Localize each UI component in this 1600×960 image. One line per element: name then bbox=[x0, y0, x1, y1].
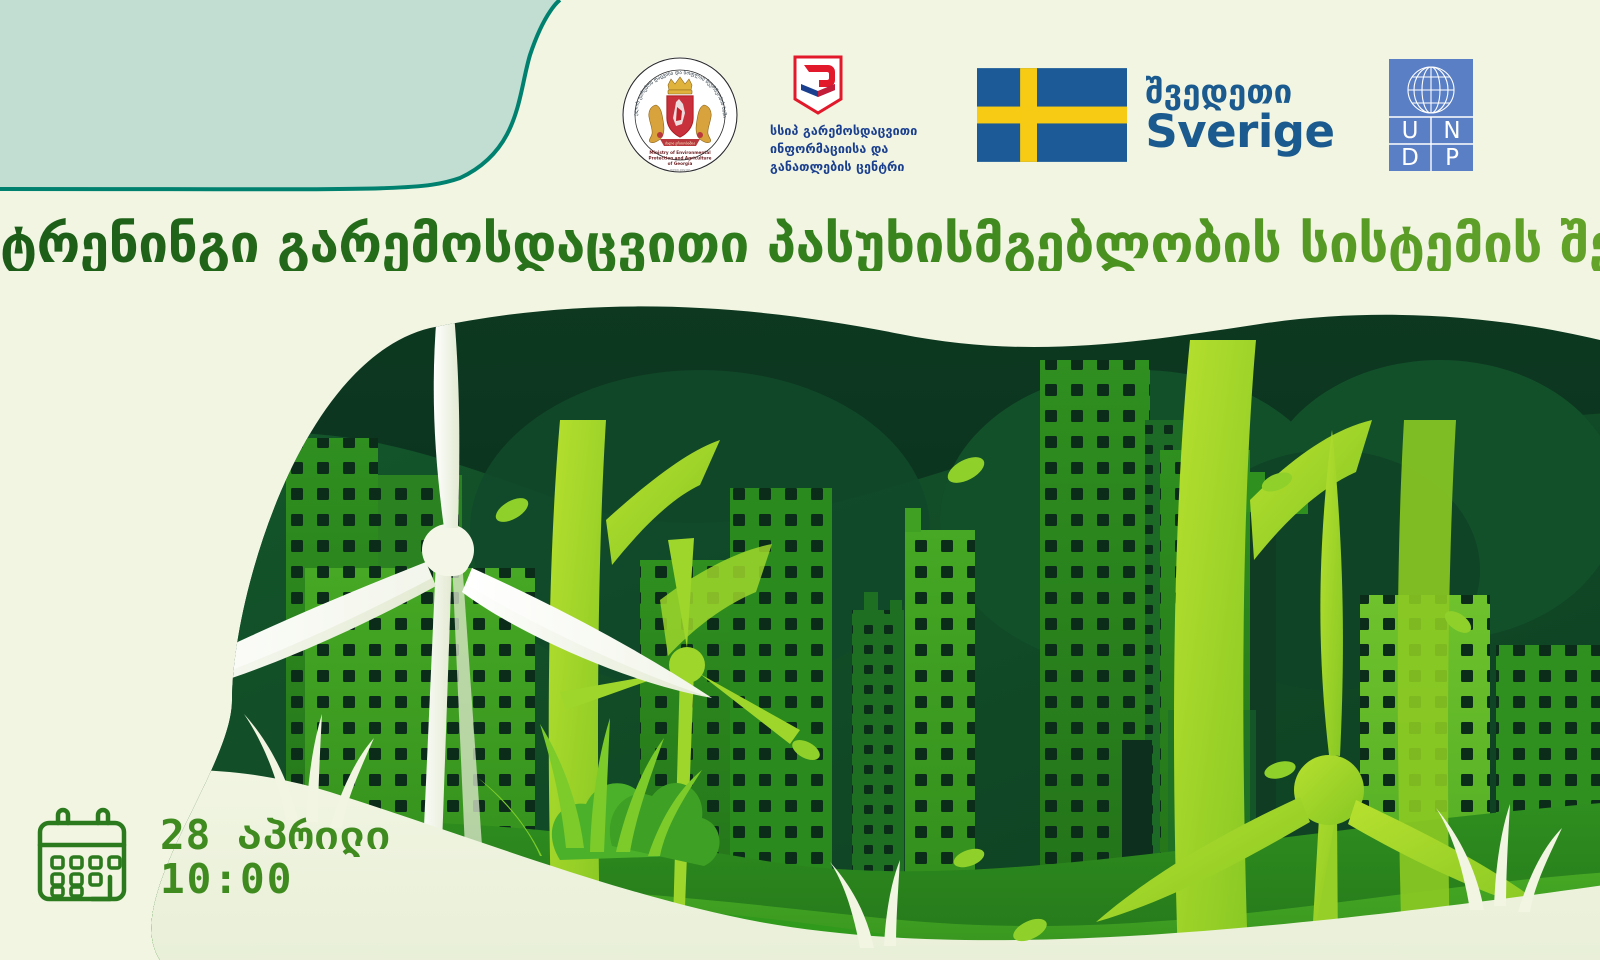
eiec-book-icon bbox=[792, 54, 844, 116]
event-datetime-text: 28 აპრილი 10:00 bbox=[160, 813, 391, 902]
svg-text:N: N bbox=[1444, 118, 1461, 144]
partner-logos-strip: საქართველოს გარემოს დაცვისა და სოფლის მე… bbox=[620, 40, 1520, 190]
svg-text:ძალა ერთობაშია: ძალა ერთობაშია bbox=[665, 142, 695, 146]
undp-logo-icon: U N D P bbox=[1389, 59, 1473, 171]
svg-text:Protection and Agriculture: Protection and Agriculture bbox=[649, 156, 712, 161]
event-date: 28 აპრილი bbox=[160, 813, 391, 857]
ministry-seal-icon: საქართველოს გარემოს დაცვისა და სოფლის მე… bbox=[620, 55, 740, 175]
poster-canvas: საქართველოს გარემოს დაცვისა და სოფლის მე… bbox=[0, 0, 1600, 960]
sweden-label-ka: შვედეთი bbox=[1145, 75, 1334, 108]
event-time: 10:00 bbox=[160, 857, 391, 901]
svg-text:U: U bbox=[1402, 118, 1419, 144]
sweden-wordmark: შვედეთი Sverige bbox=[1145, 75, 1334, 155]
sweden-label-en: Sverige bbox=[1145, 108, 1334, 155]
eiec-logo: სსიპ გარემოსდაცვითი ინფორმაციისა და განა… bbox=[770, 54, 917, 175]
svg-text:mepa.gov.ge: mepa.gov.ge bbox=[670, 168, 690, 172]
sweden-flag-icon bbox=[977, 68, 1127, 162]
svg-text:D: D bbox=[1402, 145, 1420, 171]
calendar-icon bbox=[30, 805, 134, 909]
svg-text:P: P bbox=[1446, 145, 1460, 171]
mint-header-band bbox=[0, 0, 700, 200]
ministry-seal-logo: საქართველოს გარემოს დაცვისა და სოფლის მე… bbox=[620, 55, 740, 175]
poster-title: ტრენინგი გარემოსდაცვითი პასუხისმგებლობის… bbox=[0, 218, 1600, 271]
svg-text:Ministry of Environmental: Ministry of Environmental bbox=[649, 150, 711, 155]
svg-text:of Georgia: of Georgia bbox=[668, 161, 693, 166]
sweden-logo: შვედეთი Sverige bbox=[977, 68, 1334, 162]
eiec-logo-text: სსიპ გარემოსდაცვითი ინფორმაციისა და განა… bbox=[770, 122, 917, 175]
event-datetime-block: 28 აპრილი 10:00 bbox=[30, 805, 391, 909]
